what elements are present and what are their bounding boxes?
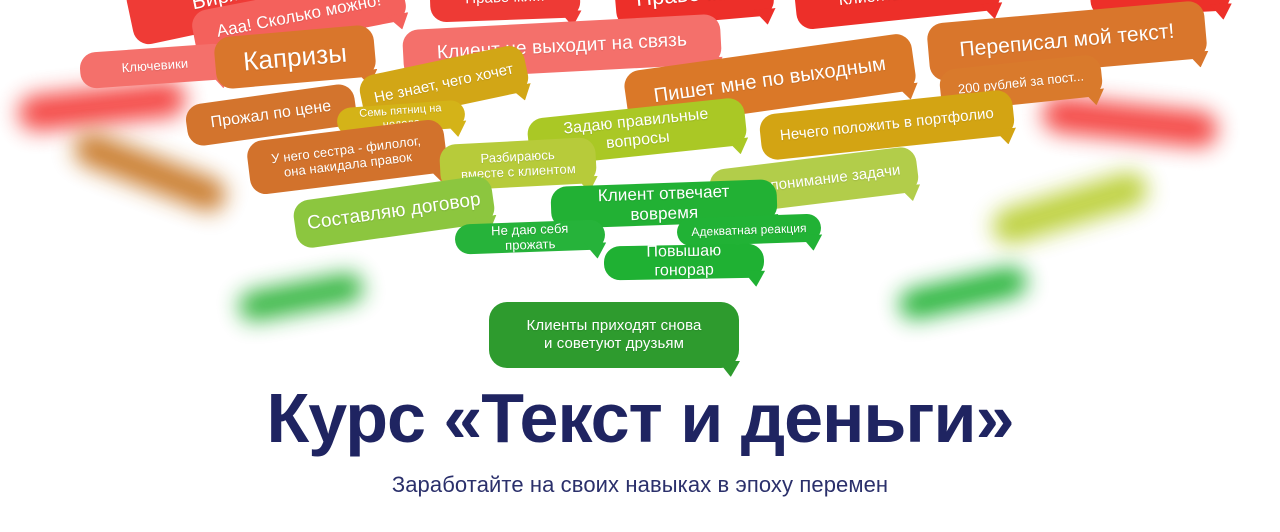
bubble-label: Составляю договор — [306, 189, 482, 236]
headline-block: Курс «Текст и деньги» Заработайте на сво… — [0, 383, 1280, 498]
hero-section: Биржи Правочки... Правочки... Клиенты из… — [0, 0, 1280, 532]
bubble-label: Ключевики — [121, 56, 189, 76]
bubble-label: Капризы — [242, 37, 348, 77]
blurred-bubble-green-right — [896, 264, 1029, 322]
bubble-label: Правочки... — [465, 0, 545, 8]
bubble-pravochki-1: Правочки... — [429, 0, 580, 23]
bubble-label: Прожал по цене — [210, 97, 333, 133]
bubble-label: Повышаю гонорар — [616, 242, 753, 282]
bubble-ne-dayu-sebya-prozhat: Не даю себя прожать — [455, 219, 606, 254]
bubble-label: Не даю себя прожать — [467, 219, 594, 254]
bubble-klyuchevik: Ключевики — [79, 43, 231, 89]
blurred-bubble-red-right — [1041, 95, 1220, 149]
page-subtitle: Заработайте на своих навыках в эпоху пер… — [0, 472, 1280, 498]
bubble-klienty-prihodyat-snova: Клиенты приходят снова и советуют друзья… — [489, 302, 739, 368]
bubble-label: Клиенты из ада — [838, 0, 957, 11]
bubble-label: Адекватная реакция — [691, 221, 807, 239]
bubble-label: У него сестра - филолог, она накидала пр… — [270, 133, 423, 182]
page-title: Курс «Текст и деньги» — [0, 383, 1280, 454]
bubble-label: Нечего положить в портфолио — [779, 105, 995, 145]
blurred-bubble-lime-right — [988, 167, 1152, 248]
bubble-label: Правочки... — [635, 0, 753, 12]
bubble-label: Клиенты приходят снова и советуют друзья… — [527, 317, 702, 352]
blurred-bubble-green-left — [236, 270, 365, 323]
bubble-povyshayu-gonorar: Повышаю гонорар — [604, 244, 765, 281]
